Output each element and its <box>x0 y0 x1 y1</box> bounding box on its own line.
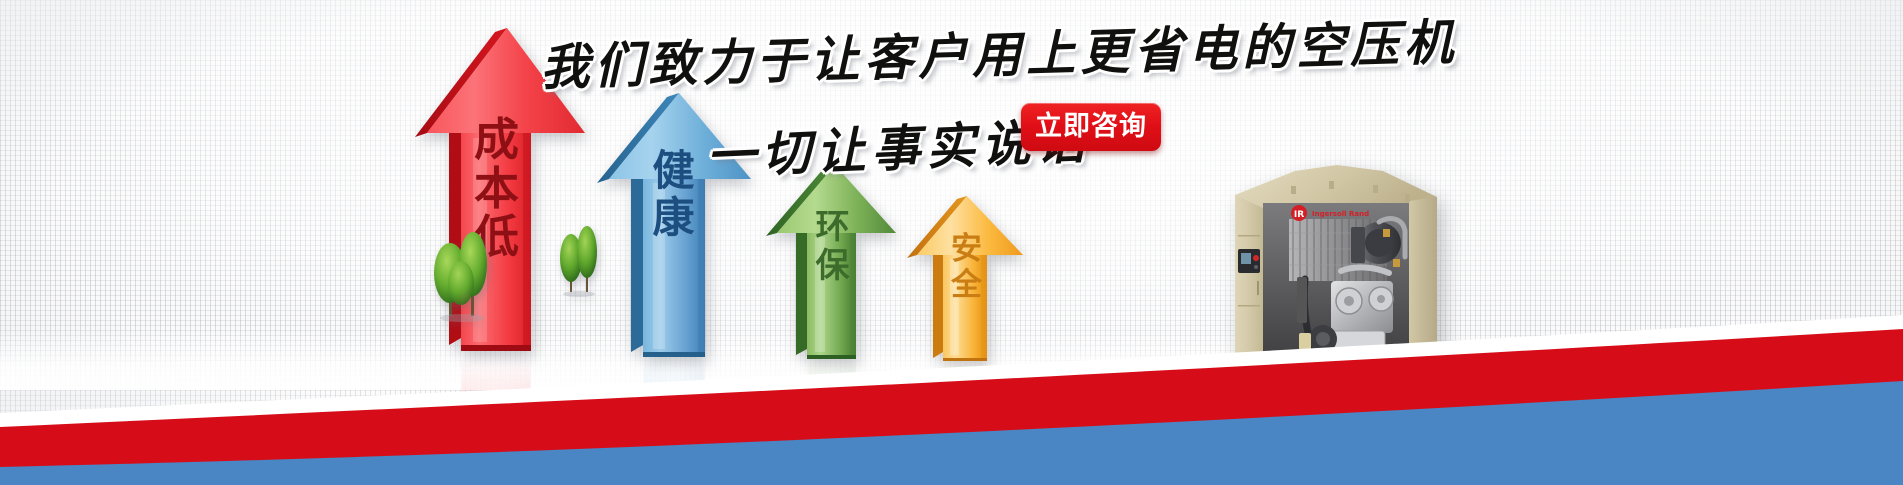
svg-text:IR: IR <box>1294 210 1304 220</box>
bottom-wave-decoration <box>0 295 1903 485</box>
svg-text:Ingersoll Rand: Ingersoll Rand <box>1312 210 1369 218</box>
promotional-banner: 成本 低 <box>0 0 1903 485</box>
consult-now-button[interactable]: 立即咨询 <box>1021 103 1161 151</box>
